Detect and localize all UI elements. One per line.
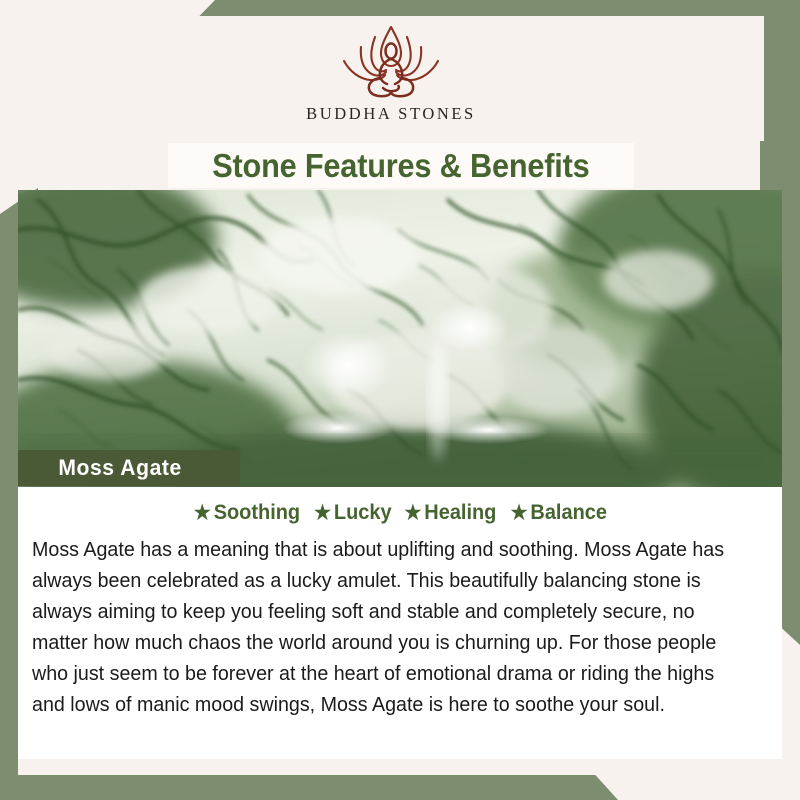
feature-label: Lucky xyxy=(333,501,391,525)
feature-item-healing: ★ Healing xyxy=(405,501,497,525)
star-icon: ★ xyxy=(193,503,210,523)
feature-label: Balance xyxy=(530,501,607,525)
star-icon: ★ xyxy=(510,503,527,523)
stone-name: Moss Agate xyxy=(22,455,207,481)
feature-list: ★ Soothing ★ Lucky ★ Healing ★ Balance xyxy=(18,487,782,525)
feature-label: Healing xyxy=(424,501,496,525)
star-icon: ★ xyxy=(405,503,422,523)
brand-header: BUDDHA STONES xyxy=(18,16,764,141)
brand-name: BUDDHA STONES xyxy=(306,104,476,124)
title-plate: Stone Features & Benefits xyxy=(168,143,634,188)
feature-item-balance: ★ Balance xyxy=(510,501,606,525)
feature-label: Soothing xyxy=(213,501,299,525)
star-icon: ★ xyxy=(314,503,331,523)
stone-name-banner: Moss Agate xyxy=(18,450,240,486)
page-title: Stone Features & Benefits xyxy=(212,147,589,185)
feature-item-lucky: ★ Lucky xyxy=(314,501,392,525)
lotus-meditation-icon xyxy=(333,22,449,100)
under-strip xyxy=(18,759,782,775)
stone-photo xyxy=(18,190,782,487)
stone-description: Moss Agate has a meaning that is about u… xyxy=(32,534,735,720)
feature-item-soothing: ★ Soothing xyxy=(193,501,299,525)
infographic-card: BUDDHA STONES Stone Features & Benefits xyxy=(0,0,800,800)
content-card: ★ Soothing ★ Lucky ★ Healing ★ Balance M… xyxy=(18,487,782,759)
